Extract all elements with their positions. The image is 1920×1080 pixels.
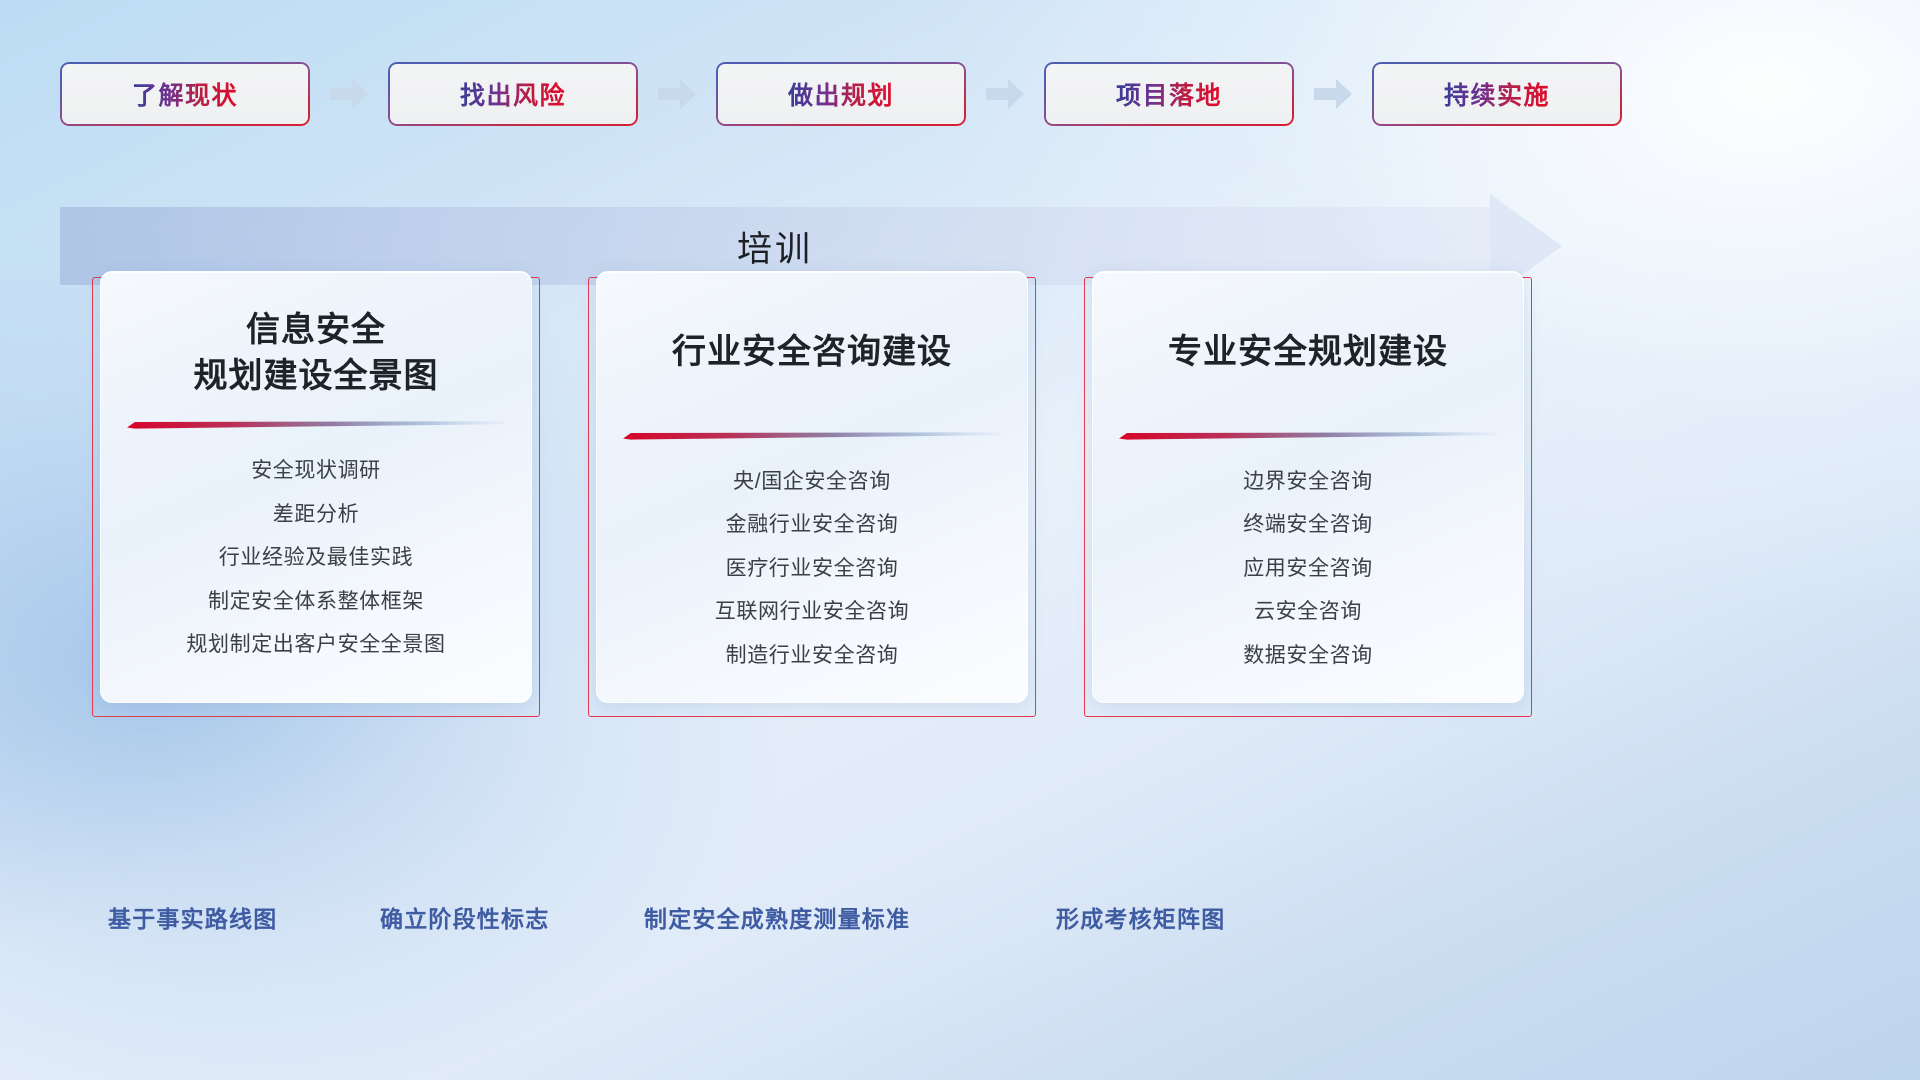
step-box-2[interactable]: 找出风险 [388, 62, 638, 126]
list-item: 行业经验及最佳实践 [219, 542, 413, 574]
card-title-line-1: 专业安全规划建设 [1168, 330, 1448, 376]
card-divider-3 [1119, 432, 1497, 440]
step-label-1: 了解现状 [132, 76, 238, 112]
step-box-3[interactable]: 做出规划 [716, 62, 966, 126]
list-item: 数据安全咨询 [1243, 640, 1373, 672]
card-title-1: 信息安全 规划建设全景图 [194, 308, 439, 399]
list-item: 央/国企安全咨询 [733, 466, 891, 498]
step-box-4[interactable]: 项目落地 [1044, 62, 1294, 126]
process-step-row: 了解现状 找出风险 做出规划 项目落地 [60, 62, 1860, 126]
list-item: 应用安全咨询 [1243, 553, 1373, 585]
list-item: 制定安全体系整体框架 [208, 586, 424, 618]
bottom-label-3: 制定安全成熟度测量标准 [644, 900, 910, 934]
bottom-label-row: 基于事实路线图 确立阶段性标志 制定安全成熟度测量标准 形成考核矩阵图 [0, 900, 1920, 944]
card-wrap-2: 行业安全咨询建设 [588, 271, 1036, 721]
list-item: 终端安全咨询 [1243, 509, 1373, 541]
step-label-5: 持续实施 [1444, 76, 1550, 112]
step-label-4: 项目落地 [1116, 76, 1222, 112]
list-item: 云安全咨询 [1254, 596, 1362, 628]
arrow-right-icon [1314, 79, 1352, 109]
list-item: 差距分析 [273, 499, 359, 531]
step-label-2: 找出风险 [460, 76, 566, 112]
list-item: 安全现状调研 [251, 455, 381, 487]
card-title-line-1: 行业安全咨询建设 [672, 330, 952, 376]
step-label-3: 做出规划 [788, 76, 894, 112]
step-box-1[interactable]: 了解现状 [60, 62, 310, 126]
bottom-label-4: 形成考核矩阵图 [1056, 900, 1225, 934]
step-box-5[interactable]: 持续实施 [1372, 62, 1622, 126]
list-item: 互联网行业安全咨询 [715, 596, 909, 628]
list-item: 医疗行业安全咨询 [726, 553, 899, 585]
card-list-3: 边界安全咨询 终端安全咨询 应用安全咨询 云安全咨询 数据安全咨询 [1243, 466, 1373, 672]
card-wrap-3: 专业安全规划建设 [1084, 271, 1532, 721]
card-title-line-2: 规划建设全景图 [194, 354, 439, 400]
list-item: 边界安全咨询 [1243, 466, 1373, 498]
card-title-3: 专业安全规划建设 [1168, 330, 1448, 376]
card-title-line-1: 信息安全 [194, 308, 439, 354]
arrow-right-icon [330, 79, 368, 109]
card-list-1: 安全现状调研 差距分析 行业经验及最佳实践 制定安全体系整体框架 规划制定出客户… [186, 455, 445, 661]
card-title-2: 行业安全咨询建设 [672, 330, 952, 376]
list-item: 金融行业安全咨询 [726, 509, 899, 541]
card-1[interactable]: 信息安全 规划建设全景图 [100, 271, 532, 703]
card-wrap-1: 信息安全 规划建设全景图 [92, 271, 540, 721]
card-divider-2 [623, 432, 1001, 440]
card-3[interactable]: 专业安全规划建设 [1092, 271, 1524, 703]
card-list-2: 央/国企安全咨询 金融行业安全咨询 医疗行业安全咨询 互联网行业安全咨询 制造行… [715, 466, 909, 672]
list-item: 制造行业安全咨询 [726, 640, 899, 672]
card-divider-1 [127, 421, 505, 429]
bottom-label-2: 确立阶段性标志 [380, 900, 549, 934]
card-2[interactable]: 行业安全咨询建设 [596, 271, 1028, 703]
card-row: 信息安全 规划建设全景图 [92, 271, 1532, 721]
arrow-right-icon [986, 79, 1024, 109]
list-item: 规划制定出客户安全全景图 [186, 629, 445, 661]
arrow-right-icon [658, 79, 696, 109]
bottom-label-1: 基于事实路线图 [108, 900, 277, 934]
slide-canvas: 了解现状 找出风险 做出规划 项目落地 [0, 0, 1920, 1080]
